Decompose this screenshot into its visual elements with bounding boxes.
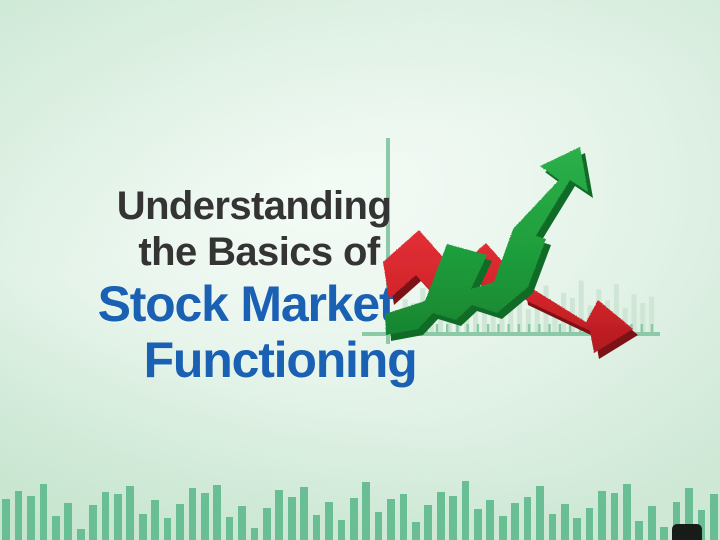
bottom-bar <box>300 487 308 540</box>
bottom-bar <box>462 481 470 540</box>
bottom-bar <box>449 496 457 540</box>
bottom-bar <box>598 491 606 540</box>
bottom-bar <box>586 508 594 540</box>
bottom-bar <box>27 496 35 540</box>
bottom-bar <box>288 497 296 540</box>
bottom-bar <box>151 500 159 540</box>
bottom-bar <box>536 486 544 540</box>
bottom-bar <box>387 499 395 540</box>
bottom-bar <box>275 490 283 540</box>
bottom-bar <box>573 518 581 540</box>
bottom-bar <box>189 488 197 540</box>
bottom-bar <box>511 503 519 540</box>
bottom-bar <box>201 493 209 540</box>
bottom-bar <box>139 514 147 540</box>
bottom-bar <box>437 492 445 540</box>
bottom-bar <box>474 509 482 540</box>
bottom-bar <box>213 485 221 540</box>
bottom-bar <box>263 508 271 540</box>
bottom-bar <box>313 515 321 540</box>
bottom-bar <box>2 499 10 540</box>
bottom-bar <box>635 521 643 540</box>
bottom-bar <box>238 506 246 540</box>
bottom-bar <box>710 494 718 540</box>
bottom-bar <box>64 503 72 540</box>
bottom-bar <box>40 484 48 540</box>
bottom-bar <box>549 514 557 540</box>
bottom-bar <box>611 493 619 540</box>
bottom-bar <box>424 505 432 540</box>
bottom-bar <box>114 494 122 540</box>
bottom-bar-series <box>0 450 720 540</box>
bottom-bar <box>226 517 234 540</box>
bottom-bar <box>338 520 346 540</box>
bottom-bar <box>164 518 172 540</box>
bottom-bar <box>648 506 656 540</box>
bottom-bar <box>15 491 23 540</box>
bottom-bar <box>350 498 358 540</box>
bottom-bar <box>499 516 507 540</box>
bottom-bar <box>486 500 494 540</box>
poster-canvas: Understanding the Basics of Stock Market… <box>0 0 720 540</box>
bottom-bar <box>89 505 97 540</box>
bottom-bar <box>102 492 110 540</box>
bottom-bar <box>561 504 569 540</box>
bottom-bar <box>176 504 184 540</box>
bottom-bar <box>623 484 631 540</box>
bottom-bar <box>660 527 668 540</box>
bottom-bar <box>400 494 408 540</box>
bottom-bar <box>126 486 134 540</box>
bottom-bar <box>251 528 259 540</box>
bottom-bar <box>325 502 333 540</box>
bottom-bar <box>524 497 532 540</box>
bottom-bar <box>52 516 60 540</box>
bottom-bar <box>77 529 85 540</box>
bottom-bar <box>375 512 383 540</box>
corner-marker <box>672 524 702 540</box>
bottom-bar <box>412 522 420 540</box>
bottom-bar <box>362 482 370 540</box>
